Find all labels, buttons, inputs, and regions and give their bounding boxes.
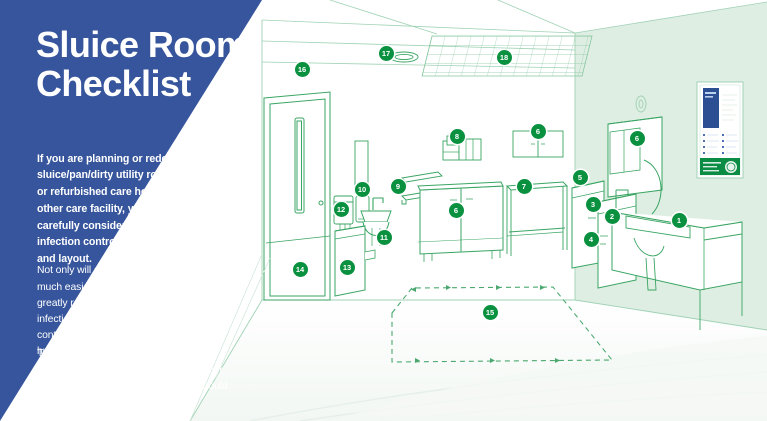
marker-6c[interactable]: 6 xyxy=(531,124,546,139)
title-line-2: Checklist xyxy=(36,65,266,104)
marker-15[interactable]: 15 xyxy=(483,305,498,320)
marker-10[interactable]: 10 xyxy=(355,182,370,197)
marker-1[interactable]: 1 xyxy=(672,213,687,228)
marker-7[interactable]: 7 xyxy=(517,179,532,194)
marker-8[interactable]: 8 xyxy=(450,129,465,144)
marker-16[interactable]: 16 xyxy=(295,62,310,77)
marker-14[interactable]: 14 xyxy=(293,262,308,277)
wall-poster-graphic xyxy=(697,82,743,178)
marker-17[interactable]: 17 xyxy=(379,46,394,61)
marker-2[interactable]: 2 xyxy=(605,209,620,224)
marker-4[interactable]: 4 xyxy=(584,232,599,247)
title-line-1: Sluice Room xyxy=(36,24,247,65)
infographic-canvas: Sluice Room Checklist If you are plannin… xyxy=(0,0,767,421)
base-cabinet xyxy=(418,182,503,262)
intro-paragraph-1: If you are planning or redesigning your … xyxy=(37,151,233,268)
intro-paragraph-3: To achieve optimum infection control in … xyxy=(37,346,233,411)
page-title: Sluice Room Checklist xyxy=(36,26,266,104)
marker-5[interactable]: 5 xyxy=(573,170,588,185)
marker-11[interactable]: 11 xyxy=(377,230,392,245)
marker-9[interactable]: 9 xyxy=(391,179,406,194)
ceiling-light-icon xyxy=(390,52,418,62)
marker-3[interactable]: 3 xyxy=(586,197,601,212)
marker-13[interactable]: 13 xyxy=(340,260,355,275)
intro-panel-content: Sluice Room Checklist If you are plannin… xyxy=(0,0,262,421)
marker-18[interactable]: 18 xyxy=(497,50,512,65)
marker-6b[interactable]: 6 xyxy=(449,203,464,218)
marker-6[interactable]: 6 xyxy=(630,131,645,146)
marker-12[interactable]: 12 xyxy=(334,202,349,217)
